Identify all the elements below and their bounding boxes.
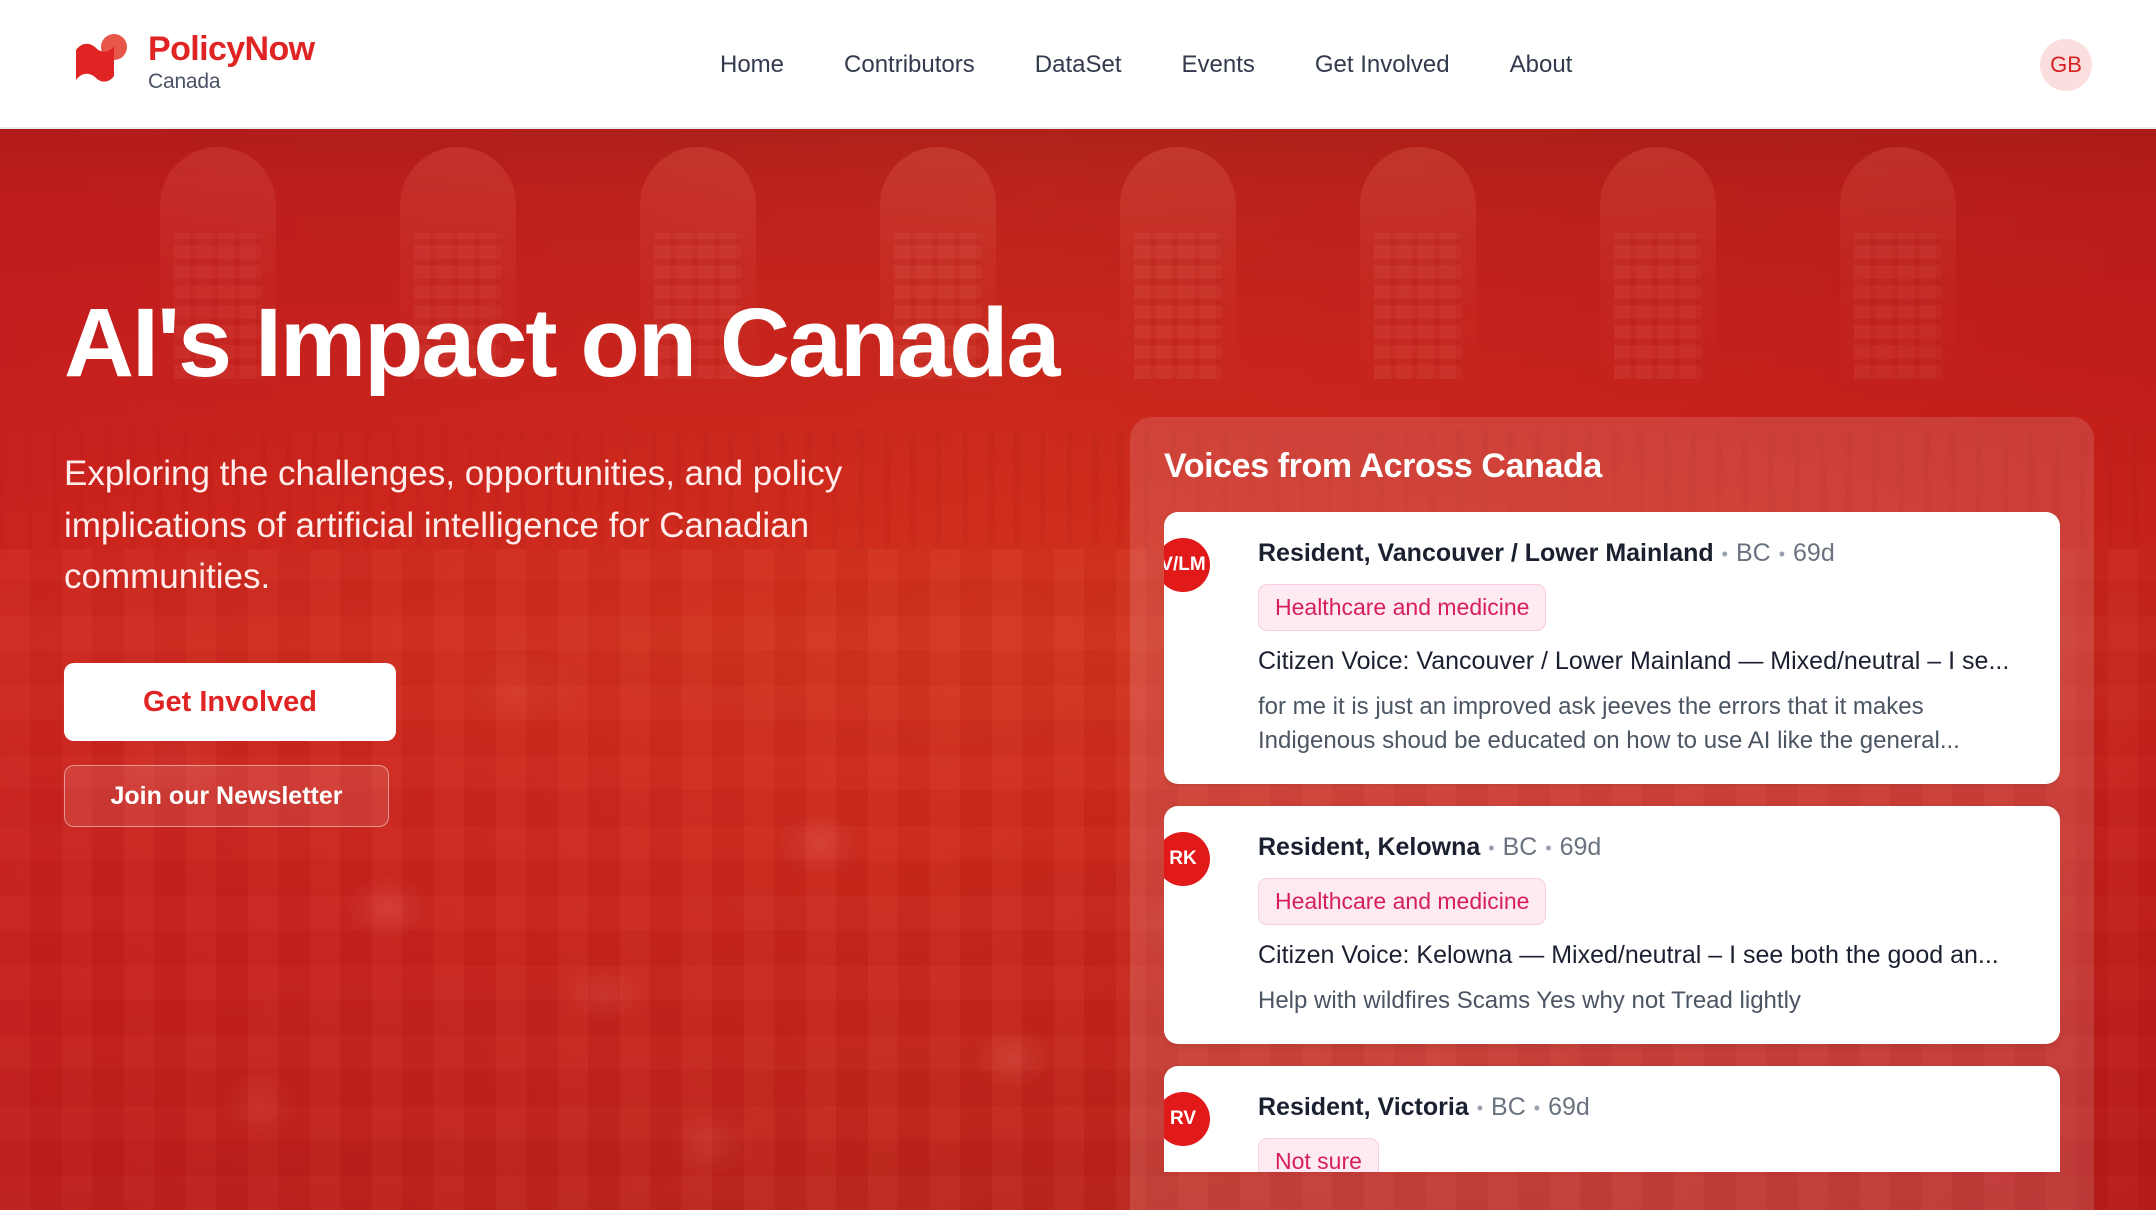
get-involved-button[interactable]: Get Involved	[64, 663, 396, 741]
separator-dot: •	[1534, 1098, 1540, 1118]
voice-topic-tag[interactable]: Not sure	[1258, 1138, 1379, 1172]
voice-card[interactable]: RV Resident, Victoria•BC•69d Not sure Ci…	[1164, 1066, 2060, 1172]
separator-dot: •	[1779, 544, 1785, 564]
hero-copy: AI's Impact on Canada Exploring the chal…	[64, 292, 1064, 827]
brand-name: PolicyNow	[148, 32, 315, 66]
site-header: PolicyNow Canada Home Contributors DataS…	[0, 0, 2156, 129]
hero-section: AI's Impact on Canada Exploring the chal…	[0, 129, 2156, 1210]
voice-author: Resident, Kelowna	[1258, 833, 1480, 861]
voice-body: for me it is just an improved ask jeeves…	[1258, 690, 2030, 758]
nav-item-home[interactable]: Home	[690, 41, 814, 89]
voice-body: Help with wildfires Scams Yes why not Tr…	[1258, 984, 2030, 1018]
voice-region: BC	[1503, 833, 1538, 861]
voice-author: Resident, Victoria	[1258, 1093, 1469, 1121]
voice-region: BC	[1491, 1093, 1526, 1121]
separator-dot: •	[1477, 1098, 1483, 1118]
voice-meta: Resident, Victoria•BC•69d	[1258, 1092, 2030, 1122]
voice-avatar: V/LM	[1164, 538, 1210, 592]
brand-subtitle: Canada	[148, 71, 315, 92]
voice-age: 69d	[1793, 539, 1835, 567]
voice-headline: Citizen Voice: Kelowna — Mixed/neutral –…	[1258, 941, 2030, 970]
voice-region: BC	[1736, 539, 1771, 567]
voices-panel-title: Voices from Across Canada	[1164, 447, 2060, 486]
nav-item-contributors[interactable]: Contributors	[814, 41, 1005, 89]
voice-avatar: RK	[1164, 832, 1210, 886]
voice-age: 69d	[1560, 833, 1602, 861]
nav-item-about[interactable]: About	[1480, 41, 1603, 89]
nav-item-dataset[interactable]: DataSet	[1005, 41, 1152, 89]
voices-list[interactable]: V/LM Resident, Vancouver / Lower Mainlan…	[1164, 512, 2060, 1172]
voices-panel: Voices from Across Canada V/LM Resident,…	[1130, 417, 2094, 1210]
separator-dot: •	[1545, 838, 1551, 858]
voice-author: Resident, Vancouver / Lower Mainland	[1258, 539, 1714, 567]
join-newsletter-button[interactable]: Join our Newsletter	[64, 765, 389, 827]
nav-item-get-involved[interactable]: Get Involved	[1285, 41, 1480, 89]
separator-dot: •	[1488, 838, 1494, 858]
hero-subtitle: Exploring the challenges, opportunities,…	[64, 448, 999, 603]
flag-book-icon	[64, 28, 132, 96]
nav-item-events[interactable]: Events	[1151, 41, 1284, 89]
voice-card[interactable]: V/LM Resident, Vancouver / Lower Mainlan…	[1164, 512, 2060, 784]
voice-meta: Resident, Vancouver / Lower Mainland•BC•…	[1258, 538, 2030, 568]
brand-logo[interactable]: PolicyNow Canada	[64, 28, 315, 96]
page-title: AI's Impact on Canada	[64, 292, 1064, 394]
voice-avatar: RV	[1164, 1092, 1210, 1146]
voice-topic-tag[interactable]: Healthcare and medicine	[1258, 584, 1546, 631]
voice-topic-tag[interactable]: Healthcare and medicine	[1258, 878, 1546, 925]
voice-age: 69d	[1548, 1093, 1590, 1121]
hero-actions: Get Involved Join our Newsletter	[64, 663, 1064, 827]
voice-card[interactable]: RK Resident, Kelowna•BC•69d Healthcare a…	[1164, 806, 2060, 1044]
voice-meta: Resident, Kelowna•BC•69d	[1258, 832, 2030, 862]
separator-dot: •	[1722, 544, 1728, 564]
main-navigation: Home Contributors DataSet Events Get Inv…	[690, 0, 1602, 129]
user-avatar[interactable]: GB	[2040, 39, 2092, 91]
voice-headline: Citizen Voice: Vancouver / Lower Mainlan…	[1258, 647, 2030, 676]
